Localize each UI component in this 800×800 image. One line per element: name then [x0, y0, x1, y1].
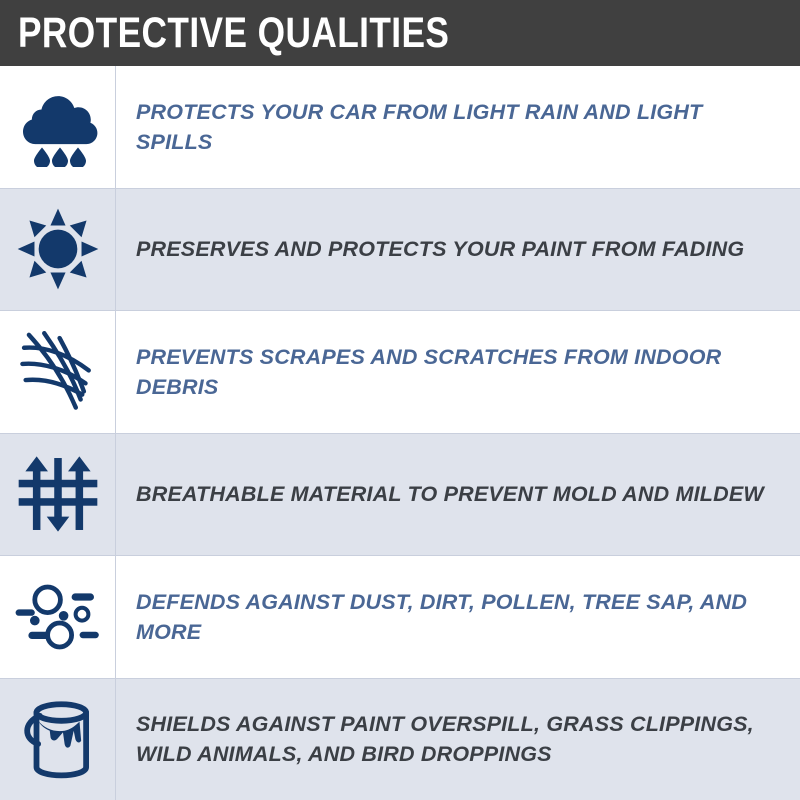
breathable-arrows-icon [16, 453, 100, 535]
feature-icon-cell [0, 66, 116, 188]
feature-row: DEFENDS AGAINST DUST, DIRT, POLLEN, TREE… [0, 556, 800, 679]
protective-qualities-infographic: PROTECTIVE QUALITIES PROTECTS YOUR CAR F… [0, 0, 800, 800]
feature-icon-cell [0, 189, 116, 311]
feature-text: DEFENDS AGAINST DUST, DIRT, POLLEN, TREE… [136, 587, 774, 647]
feature-text-cell: PRESERVES AND PROTECTS YOUR PAINT FROM F… [116, 189, 800, 311]
page-title: PROTECTIVE QUALITIES [18, 12, 449, 55]
feature-text-cell: PROTECTS YOUR CAR FROM LIGHT RAIN AND LI… [116, 66, 800, 188]
feature-icon-cell [0, 679, 116, 800]
feature-row-list: PROTECTS YOUR CAR FROM LIGHT RAIN AND LI… [0, 66, 800, 800]
feature-row: PREVENTS SCRAPES AND SCRATCHES FROM INDO… [0, 311, 800, 434]
sun-icon [16, 207, 100, 291]
feature-icon-cell [0, 434, 116, 556]
feature-row: SHIELDS AGAINST PAINT OVERSPILL, GRASS C… [0, 679, 800, 800]
feature-text: BREATHABLE MATERIAL TO PREVENT MOLD AND … [136, 479, 764, 509]
mesh-net-icon [17, 330, 99, 414]
feature-text-cell: DEFENDS AGAINST DUST, DIRT, POLLEN, TREE… [116, 556, 800, 678]
feature-text: PROTECTS YOUR CAR FROM LIGHT RAIN AND LI… [136, 97, 774, 157]
feature-text: PREVENTS SCRAPES AND SCRATCHES FROM INDO… [136, 342, 774, 402]
feature-row: PROTECTS YOUR CAR FROM LIGHT RAIN AND LI… [0, 66, 800, 189]
feature-icon-cell [0, 556, 116, 678]
dust-particles-icon [14, 579, 102, 655]
feature-text: PRESERVES AND PROTECTS YOUR PAINT FROM F… [136, 234, 744, 264]
feature-text: SHIELDS AGAINST PAINT OVERSPILL, GRASS C… [136, 709, 774, 769]
feature-text-cell: SHIELDS AGAINST PAINT OVERSPILL, GRASS C… [116, 679, 800, 800]
paint-can-icon [18, 696, 98, 782]
rain-cloud-icon [15, 87, 101, 167]
header-bar: PROTECTIVE QUALITIES [0, 0, 800, 66]
feature-text-cell: PREVENTS SCRAPES AND SCRATCHES FROM INDO… [116, 311, 800, 433]
feature-text-cell: BREATHABLE MATERIAL TO PREVENT MOLD AND … [116, 434, 800, 556]
feature-icon-cell [0, 311, 116, 433]
feature-row: BREATHABLE MATERIAL TO PREVENT MOLD AND … [0, 434, 800, 557]
feature-row: PRESERVES AND PROTECTS YOUR PAINT FROM F… [0, 189, 800, 312]
